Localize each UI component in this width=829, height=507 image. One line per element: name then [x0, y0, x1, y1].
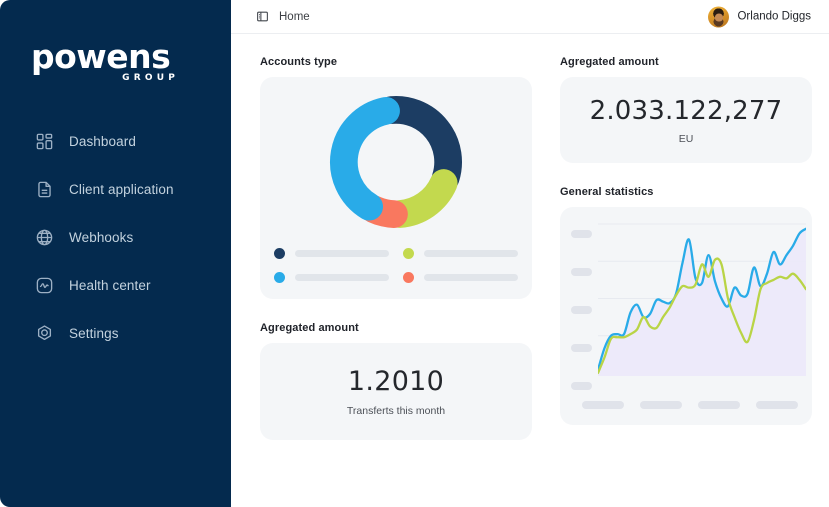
- x-axis-tick-placeholder: [756, 401, 798, 409]
- legend-dot: [274, 248, 285, 259]
- y-axis-placeholders: [571, 230, 592, 390]
- sidebar: powens GROUP Dashboard: [0, 0, 231, 507]
- x-axis-tick-placeholder: [582, 401, 624, 409]
- sidebar-item-label: Webhooks: [69, 230, 133, 245]
- avatar: [708, 6, 729, 27]
- powens-logo: powens GROUP: [31, 42, 181, 84]
- aggregated-small-card: 1.2010 Transferts this month: [260, 343, 532, 440]
- sidebar-item-health-center[interactable]: Health center: [0, 269, 231, 301]
- donut-chart: [325, 91, 467, 233]
- document-icon: [34, 179, 55, 200]
- sidebar-nav: Dashboard Client application: [0, 125, 231, 365]
- globe-icon: [34, 227, 55, 248]
- panel-toggle-icon[interactable]: [256, 10, 269, 23]
- donut-segment: [391, 110, 448, 178]
- y-axis-tick-placeholder: [571, 344, 592, 352]
- grid-icon: [34, 131, 55, 152]
- y-axis-tick-placeholder: [571, 382, 592, 390]
- breadcrumb-label: Home: [279, 11, 310, 23]
- donut-legend: [274, 248, 518, 283]
- user-name-label: Orlando Diggs: [737, 11, 811, 23]
- right-column: Agregated amount 2.033.122,277 EU Genera…: [560, 56, 812, 440]
- sidebar-item-settings[interactable]: Settings: [0, 317, 231, 349]
- donut-segment: [344, 111, 386, 207]
- x-axis-tick-placeholder: [640, 401, 682, 409]
- aggregated-small-value: 1.2010: [348, 366, 444, 397]
- sidebar-item-label: Client application: [69, 182, 174, 197]
- legend-dot: [403, 272, 414, 283]
- dashboard-app: powens GROUP Dashboard: [0, 0, 829, 507]
- legend-dot: [274, 272, 285, 283]
- legend-dot: [403, 248, 414, 259]
- y-axis-tick-placeholder: [571, 306, 592, 314]
- y-axis-tick-placeholder: [571, 268, 592, 276]
- topbar: Home Orlando Diggs: [231, 0, 829, 34]
- aggregated-wide-title: Agregated amount: [560, 56, 812, 68]
- accounts-type-title: Accounts type: [260, 56, 532, 68]
- x-axis-placeholders: [582, 401, 798, 409]
- y-axis-tick-placeholder: [571, 230, 592, 238]
- legend-item-navy: [274, 248, 389, 259]
- logo-wordmark: powens: [31, 42, 181, 72]
- aggregated-wide-unit: EU: [679, 133, 694, 145]
- pulse-icon: [34, 275, 55, 296]
- legend-item-lime: [403, 248, 518, 259]
- area-chart: [598, 221, 806, 376]
- sidebar-item-label: Health center: [69, 278, 151, 293]
- aggregated-wide-card: 2.033.122,277 EU: [560, 77, 812, 163]
- aggregated-small-subtitle: Transferts this month: [347, 405, 445, 417]
- accounts-type-card: [260, 77, 532, 299]
- general-statistics-card: [560, 207, 812, 425]
- x-axis-tick-placeholder: [698, 401, 740, 409]
- legend-placeholder-bar: [424, 250, 518, 257]
- left-column: Accounts type: [260, 56, 532, 440]
- aggregated-wide-value: 2.033.122,277: [590, 96, 783, 126]
- legend-placeholder-bar: [295, 274, 389, 281]
- sidebar-item-label: Dashboard: [69, 134, 136, 149]
- legend-placeholder-bar: [295, 250, 389, 257]
- sidebar-item-webhooks[interactable]: Webhooks: [0, 221, 231, 253]
- general-statistics-title: General statistics: [560, 186, 812, 198]
- sidebar-item-dashboard[interactable]: Dashboard: [0, 125, 231, 157]
- user-menu[interactable]: Orlando Diggs: [708, 6, 811, 27]
- sidebar-item-label: Settings: [69, 326, 119, 341]
- legend-item-coral: [403, 272, 518, 283]
- main-area: Home Orlando Diggs Accounts type: [231, 0, 829, 507]
- gear-icon: [34, 323, 55, 344]
- aggregated-small-title: Agregated amount: [260, 322, 532, 334]
- sidebar-item-client-application[interactable]: Client application: [0, 173, 231, 205]
- breadcrumb[interactable]: Home: [256, 10, 310, 23]
- legend-placeholder-bar: [424, 274, 518, 281]
- area-fill: [598, 229, 806, 376]
- legend-item-blue: [274, 272, 389, 283]
- dashboard-content: Accounts type: [231, 34, 829, 440]
